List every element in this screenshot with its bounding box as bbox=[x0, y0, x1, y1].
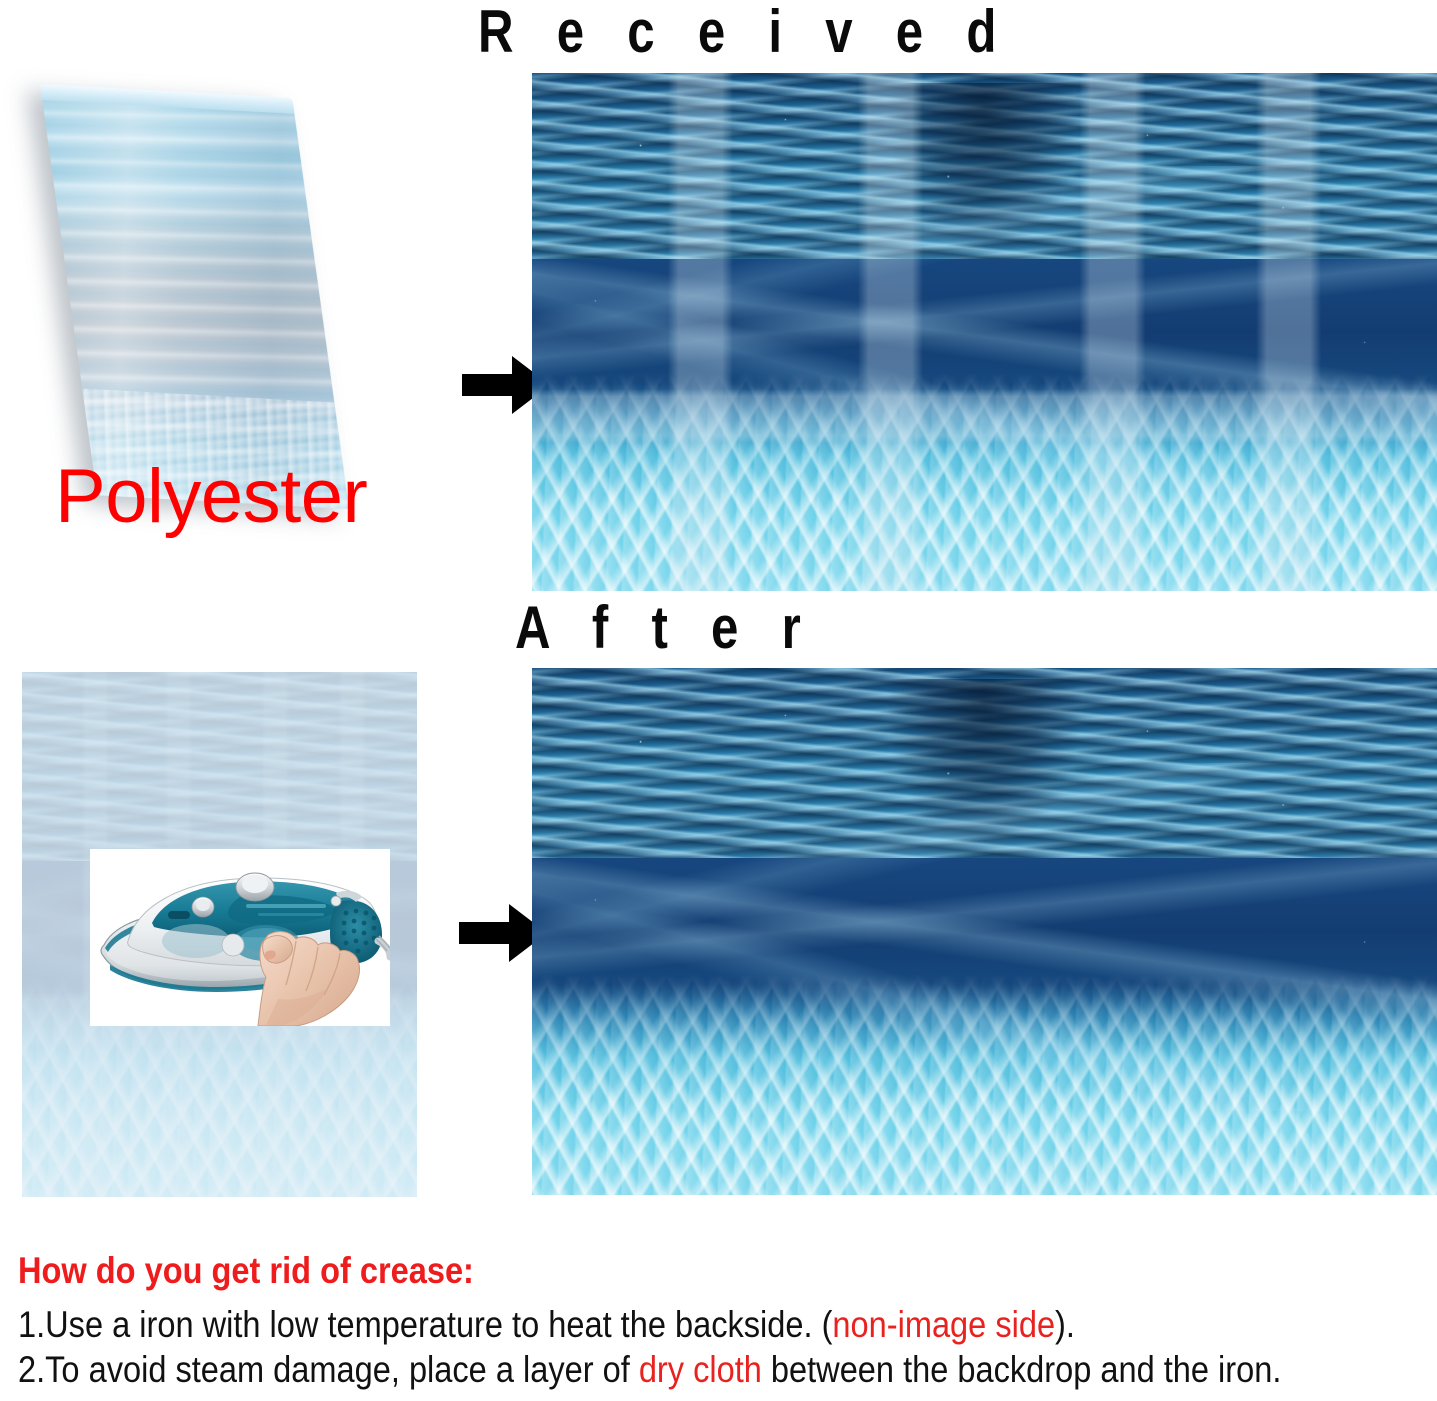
instruction-line-2: 2.To avoid steam damage, place a layer o… bbox=[18, 1347, 1259, 1392]
instructions-heading: How do you get rid of crease: bbox=[18, 1252, 1259, 1290]
fabric-sheen bbox=[40, 84, 349, 509]
polyester-fabric-roll bbox=[12, 78, 392, 508]
iron-front-pad bbox=[162, 924, 230, 958]
after-section-title: A f t e r bbox=[515, 598, 816, 658]
steam-iron-with-hand-icon bbox=[90, 849, 390, 1026]
instruction-1-suffix: ). bbox=[1055, 1304, 1075, 1345]
fabric-roll-body bbox=[40, 84, 349, 509]
iron-spray-button bbox=[222, 934, 244, 956]
instruction-2-highlight: dry cloth bbox=[639, 1349, 762, 1390]
iron-slot bbox=[168, 911, 190, 919]
iron-photo-card bbox=[90, 849, 390, 1026]
instruction-1-prefix: 1.Use a iron with low temperature to hea… bbox=[18, 1304, 832, 1345]
instructions-block: How do you get rid of crease: 1.Use a ir… bbox=[18, 1252, 1428, 1392]
water-particles bbox=[532, 73, 1437, 591]
received-section-title: R e c e i v e d bbox=[478, 2, 1011, 62]
instruction-2-suffix: between the backdrop and the iron. bbox=[762, 1349, 1282, 1390]
water-particles bbox=[532, 668, 1437, 1195]
instruction-2-prefix: 2.To avoid steam damage, place a layer o… bbox=[18, 1349, 639, 1390]
instruction-1-highlight: non-image side bbox=[832, 1304, 1055, 1345]
product-infographic: R e c e i v e d Polyester A f t e r bbox=[0, 0, 1437, 1401]
instruction-line-1: 1.Use a iron with low temperature to hea… bbox=[18, 1302, 1259, 1347]
after-backdrop-image bbox=[532, 668, 1437, 1195]
polyester-material-label: Polyester bbox=[55, 459, 367, 535]
received-backdrop-image bbox=[532, 73, 1437, 591]
